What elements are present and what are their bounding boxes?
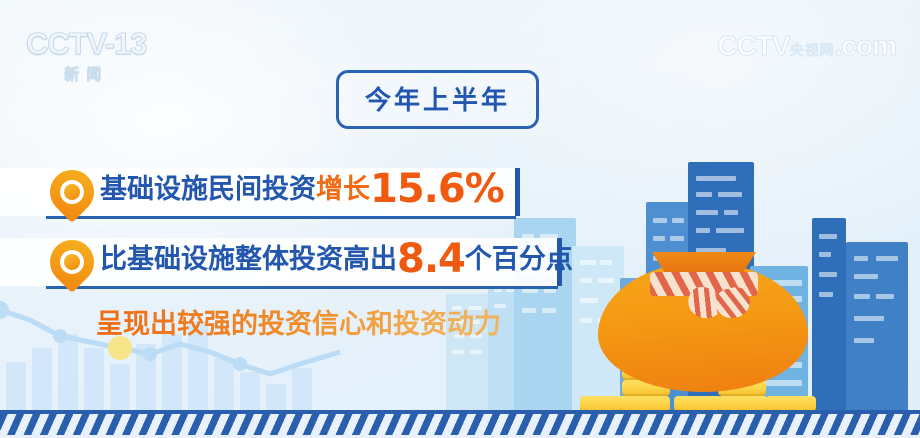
- statement-part-blue: 基础设施民间投资: [100, 174, 316, 205]
- location-pin-icon: [50, 170, 94, 224]
- statement-row: 比基础设施整体投资高出8.4个百分点: [0, 234, 600, 296]
- statement-part-orange: 增长: [316, 174, 370, 205]
- statement-part-blue: 比基础设施整体投资高出: [100, 244, 397, 275]
- watermark-cn: 央视网: [790, 42, 835, 58]
- statement-underline: [46, 216, 516, 219]
- site-watermark: CCTV央视网.com: [717, 30, 896, 62]
- statement-unit: %: [465, 166, 504, 212]
- statement-value: 15.6: [370, 166, 465, 212]
- statement-list: 基础设施民间投资增长15.6% 比基础设施整体投资高出8.4个百分点 呈现出较强…: [0, 164, 600, 354]
- money-bag-illustration: [578, 204, 838, 414]
- watermark-text: CCTV: [717, 30, 789, 61]
- headline-badge: 今年上半年: [336, 70, 539, 129]
- headline-badge-label: 今年上半年: [365, 86, 510, 116]
- broadcast-graphic: CCTV-13 新闻 CCTV央视网.com 今年上半年 基础设施民间投资增长1…: [0, 0, 920, 438]
- location-pin-icon: [50, 240, 94, 294]
- conclusion-text: 呈现出较强的投资信心和投资动力: [96, 302, 501, 341]
- statement-value: 8.4: [397, 236, 465, 282]
- channel-logo: CCTV-13 新闻: [26, 28, 146, 84]
- watermark-suffix: .com: [835, 30, 896, 61]
- statement-text: 基础设施民间投资增长15.6%: [100, 166, 504, 212]
- statement-unit: 个百分点: [465, 244, 573, 275]
- conclusion-row: 呈现出较强的投资信心和投资动力: [0, 304, 600, 354]
- statement-row: 基础设施民间投资增长15.6%: [0, 164, 600, 226]
- channel-logo-mark: CCTV-13: [26, 28, 146, 59]
- statement-underline: [46, 286, 558, 289]
- channel-logo-subtitle: 新闻: [26, 63, 146, 84]
- statement-text: 比基础设施整体投资高出8.4个百分点: [100, 236, 573, 282]
- bottom-striped-band: [0, 414, 920, 438]
